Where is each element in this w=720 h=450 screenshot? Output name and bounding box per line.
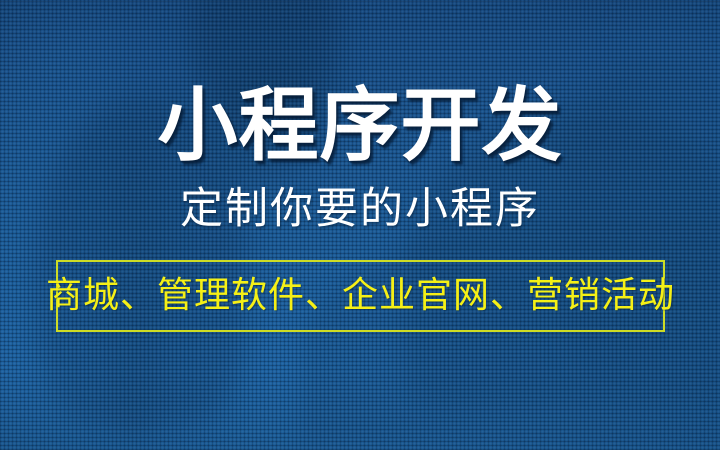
feature-list-box: 商城、管理软件、企业官网、营销活动 [56,260,665,332]
banner-headline: 小程序开发 [0,86,720,166]
banner-subheadline: 定制你要的小程序 [0,188,720,231]
feature-list-text: 商城、管理软件、企业官网、营销活动 [46,278,675,314]
banner-content: 小程序开发 定制你要的小程序 商城、管理软件、企业官网、营销活动 [0,0,720,450]
promo-banner: 小程序开发 定制你要的小程序 商城、管理软件、企业官网、营销活动 [0,0,720,450]
